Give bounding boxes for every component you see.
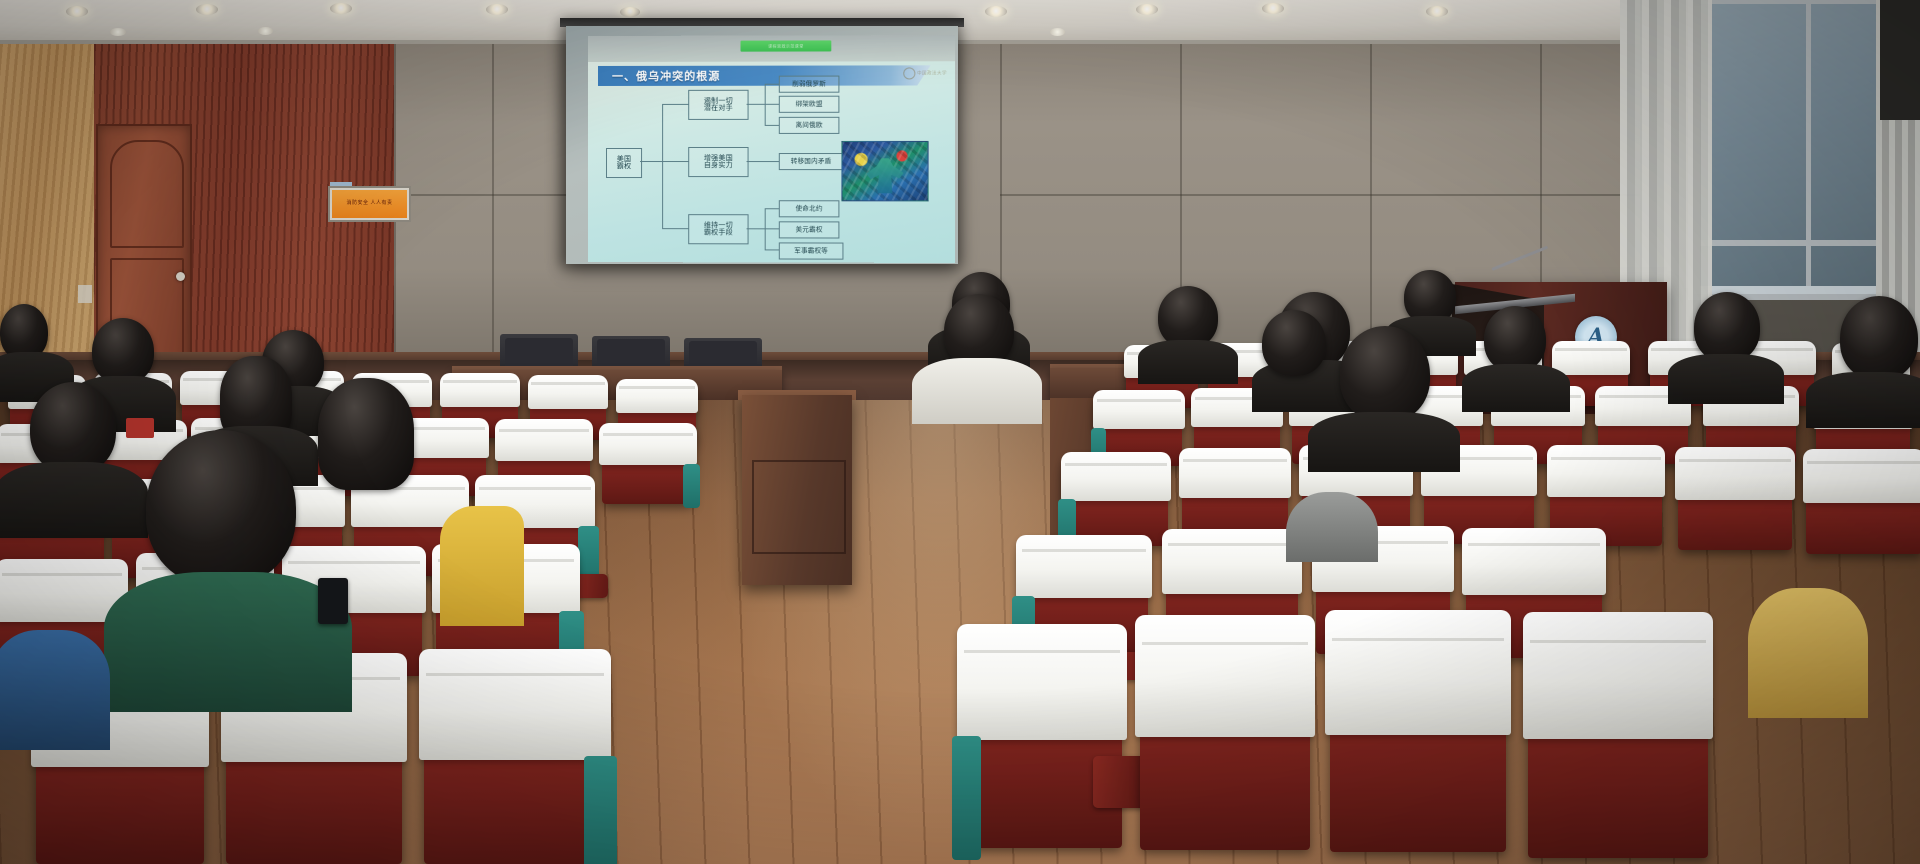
diagram-connector bbox=[747, 161, 779, 162]
ceiling-light bbox=[1262, 3, 1284, 14]
diagram-leaf-box: 削弱俄罗斯 bbox=[779, 76, 840, 93]
audience-head bbox=[318, 378, 414, 490]
wall-panel-seam bbox=[1370, 44, 1372, 364]
ceiling-light bbox=[620, 7, 640, 17]
audience-shoulders bbox=[1308, 412, 1460, 472]
audience-shoulders bbox=[1286, 492, 1378, 562]
audience-head bbox=[146, 430, 296, 586]
door-plate bbox=[78, 285, 92, 303]
seat-cover bbox=[616, 379, 699, 413]
audience-head bbox=[1340, 326, 1430, 422]
chair-back bbox=[689, 341, 758, 369]
ceiling-light bbox=[196, 4, 218, 15]
seat-cover bbox=[1803, 449, 1920, 504]
seat-cover bbox=[1179, 448, 1291, 498]
diagram-leaf-box: 军事霸权等 bbox=[779, 242, 844, 259]
diagram-connector bbox=[662, 161, 688, 162]
ceiling-light bbox=[330, 3, 352, 14]
front-desk-panel bbox=[752, 460, 846, 554]
diagram-leaf-box: 转移国内矛盾 bbox=[779, 153, 844, 170]
audience-shoulders bbox=[440, 506, 524, 626]
lecture-hall-photo: 消防安全 人人有责 课程思政示范课堂 一、俄乌冲突的根源 中国政法大学 bbox=[0, 0, 1920, 864]
diagram-branch-box: 遏制一切 潜在对手 bbox=[688, 90, 748, 120]
diagram-root-box: 美国 霸权 bbox=[606, 148, 642, 178]
seat[interactable] bbox=[1330, 636, 1506, 852]
diagram-leaf-box: 离间俄欧 bbox=[779, 117, 840, 134]
projection-screen[interactable]: 课程思政示范课堂 一、俄乌冲突的根源 中国政法大学 美国 霸权 bbox=[566, 26, 958, 264]
audience-shoulders bbox=[1806, 372, 1920, 428]
seat-cover bbox=[1135, 615, 1315, 737]
seat-cover bbox=[957, 624, 1127, 740]
audience-shoulders bbox=[1138, 340, 1238, 384]
seat-cover bbox=[1325, 610, 1512, 735]
seat[interactable] bbox=[1140, 640, 1310, 850]
seat[interactable] bbox=[602, 432, 694, 504]
diagram-branch-line2: 自身实力 bbox=[704, 162, 733, 169]
seat-side-panel bbox=[584, 756, 617, 864]
seat-cover bbox=[1547, 445, 1666, 497]
audience-head bbox=[1840, 296, 1918, 380]
slide-diagram: 美国 霸权 遏制一切 潜在对手 削弱俄罗斯 bbox=[588, 35, 955, 263]
diagram-connector bbox=[662, 104, 688, 105]
diagram-connector bbox=[765, 125, 779, 126]
diagram-branch-line2: 霸权手段 bbox=[704, 229, 733, 236]
wall-panel-seam bbox=[492, 44, 494, 364]
audience-head bbox=[1262, 310, 1326, 376]
seat-cover bbox=[440, 373, 521, 407]
door-handle[interactable] bbox=[176, 272, 185, 281]
diagram-root-line2: 霸权 bbox=[617, 163, 631, 170]
diagram-branch-box: 增强美国 自身实力 bbox=[688, 147, 748, 177]
audience-head bbox=[92, 318, 154, 384]
wall-panel-seam bbox=[394, 194, 566, 196]
ceiling-light bbox=[66, 6, 88, 17]
ceiling-light bbox=[985, 6, 1007, 17]
diagram-connector bbox=[765, 249, 779, 250]
chair-back bbox=[597, 339, 666, 368]
seat-cover bbox=[1552, 341, 1630, 375]
diagram-leaf-box: 使命北约 bbox=[779, 200, 840, 217]
ceiling-light bbox=[486, 4, 508, 15]
audience-head bbox=[944, 294, 1014, 368]
audience-shoulders bbox=[0, 630, 110, 750]
door-panel bbox=[110, 140, 184, 248]
diagram-connector bbox=[765, 208, 779, 209]
seat-cover bbox=[1162, 529, 1302, 594]
seat[interactable] bbox=[1678, 458, 1792, 550]
notice-inner: 消防安全 人人有责 bbox=[332, 190, 407, 218]
ceiling-light bbox=[1050, 28, 1065, 36]
ceiling-light bbox=[1136, 4, 1158, 15]
wall-corner-shadow bbox=[1880, 0, 1920, 120]
seat-cover bbox=[599, 423, 697, 465]
seat-cover bbox=[528, 375, 609, 409]
audience-shoulders bbox=[104, 572, 352, 712]
diagram-branch-line2: 潜在对手 bbox=[704, 105, 733, 112]
seat-cover bbox=[419, 649, 612, 760]
audience-head bbox=[1158, 286, 1218, 348]
seat-side-panel bbox=[952, 736, 981, 860]
slide-illustration bbox=[841, 141, 928, 201]
projected-slide: 课程思政示范课堂 一、俄乌冲突的根源 中国政法大学 美国 霸权 bbox=[588, 35, 955, 263]
seat[interactable] bbox=[1528, 638, 1708, 858]
ceiling-light bbox=[258, 27, 273, 35]
audience-head bbox=[1484, 306, 1546, 372]
audience-head bbox=[1694, 292, 1760, 362]
diagram-connector bbox=[662, 228, 688, 229]
seat[interactable] bbox=[1806, 460, 1920, 554]
seat-cover bbox=[1061, 452, 1171, 501]
seat-cover bbox=[1523, 612, 1714, 740]
ceiling-light bbox=[110, 28, 126, 36]
diagram-connector bbox=[640, 161, 662, 162]
seat-cover bbox=[1462, 528, 1606, 595]
diagram-branch-box: 维持一切 霸权手段 bbox=[688, 214, 748, 244]
chair-back bbox=[505, 338, 574, 369]
diagram-leaf-box: 绑架欧盟 bbox=[779, 96, 840, 113]
wall-panel-seam bbox=[1000, 194, 1640, 196]
audience-shoulders bbox=[0, 462, 148, 538]
diagram-connector bbox=[765, 228, 779, 229]
diagram-connector bbox=[747, 104, 765, 105]
audience-shoulders bbox=[1668, 354, 1784, 404]
ceiling-light bbox=[1426, 6, 1448, 17]
notice-text: 消防安全 人人有责 bbox=[346, 201, 392, 207]
diagram-connector bbox=[765, 84, 779, 85]
seat-cover bbox=[495, 419, 593, 461]
handheld-device bbox=[318, 578, 348, 624]
seat[interactable] bbox=[962, 648, 1122, 848]
audience-shoulders bbox=[912, 358, 1042, 424]
wall-notice-sign: 消防安全 人人有责 bbox=[328, 186, 411, 222]
seat-cover bbox=[1016, 535, 1152, 598]
seat-cover bbox=[1675, 447, 1796, 500]
seat[interactable] bbox=[424, 672, 606, 864]
diagram-connector bbox=[747, 228, 765, 229]
handheld-device bbox=[126, 418, 154, 438]
diagram-connector bbox=[765, 104, 779, 105]
audience-head bbox=[30, 382, 116, 474]
audience-shoulders bbox=[1462, 364, 1570, 412]
audience-shoulders bbox=[1748, 588, 1868, 718]
seat[interactable] bbox=[1064, 462, 1168, 546]
diagram-connector bbox=[662, 104, 663, 228]
diagram-leaf-box: 美元霸权 bbox=[779, 221, 840, 238]
seat-side-panel bbox=[683, 464, 700, 509]
seat-cover bbox=[1093, 390, 1184, 429]
